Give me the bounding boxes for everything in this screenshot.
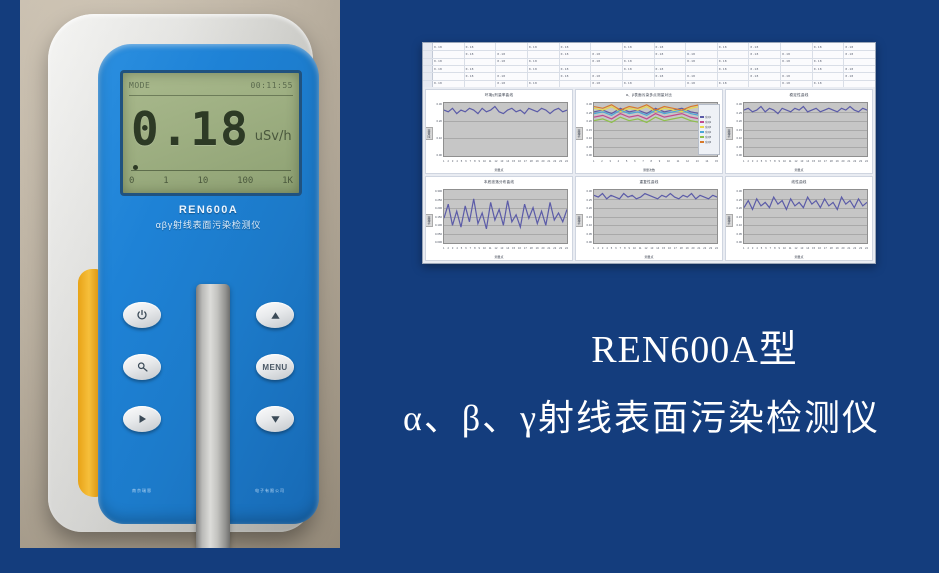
- chart-x-tick: 7: [770, 247, 771, 253]
- chart-x-tick: 16: [818, 160, 821, 166]
- chart-y-tick: 0.15: [587, 215, 592, 219]
- chart-x-tick: 19: [536, 247, 539, 253]
- chart-y-tick: 0.10: [737, 136, 742, 140]
- chart-x-tick: 21: [547, 247, 550, 253]
- chart-y-tick: 0.30: [587, 102, 592, 106]
- spreadsheet-region: 0.180.180.180.180.180.180.180.180.180.18…: [423, 43, 875, 88]
- chart-x-tick: 4: [456, 247, 457, 253]
- chart-plot-area: [743, 102, 868, 157]
- spreadsheet-cell[interactable]: 0.18: [466, 52, 474, 56]
- chart-x-axis-title: 测量点: [726, 255, 872, 259]
- chart-x-tick: 2: [597, 247, 598, 253]
- chart-x-tick-labels: 123456789101112131415161718192021222324: [443, 160, 568, 166]
- chart-x-tick: 18: [680, 247, 683, 253]
- chart-card: 稳定性曲线计数率0.300.250.200.150.100.050.001234…: [725, 89, 873, 174]
- chart-x-tick: 20: [542, 247, 545, 253]
- chart-x-tick: 22: [553, 160, 556, 166]
- chart-legend-swatch: [700, 121, 704, 124]
- chart-x-tick: 23: [859, 160, 862, 166]
- spreadsheet-cell[interactable]: 0.18: [782, 74, 790, 78]
- chart-x-tick: 18: [530, 160, 533, 166]
- chart-x-tick: 2: [747, 247, 748, 253]
- spreadsheet-cell[interactable]: 0.18: [434, 45, 442, 49]
- spreadsheet-cell[interactable]: 0.18: [466, 67, 474, 71]
- chart-plot-wrapper: [743, 189, 868, 244]
- chart-card: α、β表面污染多点测量对比计数率0.300.250.200.150.100.05…: [575, 89, 723, 174]
- chart-x-tick: 15: [812, 160, 815, 166]
- chart-x-tick: 24: [865, 247, 868, 253]
- chart-x-tick: 3: [602, 247, 603, 253]
- device-shell: MODE 00:11:55 0.18 uSv/h 01101001K REN60…: [48, 14, 313, 532]
- spreadsheet-cell[interactable]: 0.18: [656, 52, 664, 56]
- chart-x-tick: 12: [645, 247, 648, 253]
- spreadsheet-cell[interactable]: 0.18: [529, 81, 537, 85]
- chart-legend-item[interactable]: 系列3: [700, 125, 718, 129]
- spreadsheet-rowline: [423, 65, 875, 66]
- chart-x-tick: 23: [709, 247, 712, 253]
- spreadsheet-cell[interactable]: 0.18: [814, 59, 822, 63]
- spreadsheet-cell[interactable]: 0.18: [814, 45, 822, 49]
- chart-title: 环境γ剂量率曲线: [426, 93, 572, 98]
- chart-card: 本底涨落分布曲线计数率0.3000.2500.2000.1500.1000.05…: [425, 176, 573, 261]
- chart-legend-label: 系列3: [705, 125, 711, 129]
- chart-legend-item[interactable]: 系列6: [700, 140, 718, 144]
- spreadsheet-cell[interactable]: 0.18: [750, 52, 758, 56]
- lcd-status-bar: MODE 00:11:55: [129, 76, 293, 94]
- spreadsheet-rowline: [423, 50, 875, 51]
- chart-x-tick: 15: [512, 247, 515, 253]
- chart-x-tick: 1: [593, 160, 594, 166]
- chart-x-tick: 5: [461, 160, 462, 166]
- chart-y-tick: 0.100: [435, 223, 442, 227]
- chart-y-tick: 0.15: [587, 128, 592, 132]
- spreadsheet-cell[interactable]: 0.18: [719, 45, 727, 49]
- spreadsheet-cell[interactable]: 0.18: [814, 67, 822, 71]
- device-microtext-left: 南京瑞恩: [132, 488, 152, 494]
- chart-title: 重复性曲线: [576, 180, 722, 185]
- chart-y-tick: 0.30: [587, 189, 592, 193]
- chart-x-tick: 3: [609, 160, 610, 166]
- lcd-reading-unit: uSv/h: [255, 129, 292, 144]
- chart-series-svg: [444, 103, 567, 156]
- lcd-status-left: MODE: [129, 81, 150, 90]
- chart-series-line: [444, 107, 567, 114]
- chart-legend-swatch: [700, 136, 704, 139]
- chart-x-tick: 5: [626, 160, 627, 166]
- chart-y-tick-labels: 0.300.200.100.00: [427, 102, 442, 157]
- chart-y-tick-labels: 0.300.250.200.150.100.050.00: [577, 102, 592, 157]
- spreadsheet-cell[interactable]: 0.18: [719, 67, 727, 71]
- chart-x-tick: 8: [651, 160, 652, 166]
- spreadsheet-cell[interactable]: 0.18: [719, 81, 727, 85]
- chart-x-tick: 2: [601, 160, 602, 166]
- chart-gridline: [744, 156, 867, 157]
- chart-x-tick: 9: [629, 247, 630, 253]
- chart-x-tick: 9: [479, 160, 480, 166]
- chart-x-tick: 12: [495, 160, 498, 166]
- spreadsheet-cell[interactable]: 0.18: [687, 81, 695, 85]
- chart-gridline: [444, 243, 567, 244]
- spreadsheet-cell[interactable]: 0.18: [434, 81, 442, 85]
- chart-plot-wrapper: [593, 189, 718, 244]
- chart-x-tick-labels: 123456789101112131415161718192021222324: [443, 247, 568, 253]
- chart-x-tick: 16: [818, 247, 821, 253]
- chart-x-tick: 12: [795, 247, 798, 253]
- spreadsheet-cell[interactable]: 0.18: [592, 52, 600, 56]
- chart-gridline: [594, 156, 717, 157]
- spreadsheet-colline: [780, 43, 781, 87]
- spreadsheet-cell[interactable]: 0.18: [592, 81, 600, 85]
- chart-x-tick: 10: [667, 160, 670, 166]
- chart-x-tick: 2: [447, 247, 448, 253]
- spreadsheet-cell[interactable]: 0.18: [782, 81, 790, 85]
- device-front-panel: MODE 00:11:55 0.18 uSv/h 01101001K REN60…: [98, 44, 319, 524]
- play-icon: [136, 413, 148, 425]
- spreadsheet-colline: [812, 43, 813, 87]
- spreadsheet-cell[interactable]: 0.18: [497, 81, 505, 85]
- chart-x-tick: 13: [500, 160, 503, 166]
- chart-x-tick: 23: [559, 247, 562, 253]
- chart-y-tick: 0.05: [737, 232, 742, 236]
- chart-y-tick: 0.10: [587, 136, 592, 140]
- chart-x-tick: 6: [634, 160, 635, 166]
- chart-x-tick: 19: [536, 160, 539, 166]
- chart-card: 线性曲线计数率0.300.250.200.150.100.050.0012345…: [725, 176, 873, 261]
- spreadsheet-cell[interactable]: 0.18: [750, 45, 758, 49]
- chart-x-tick: 5: [611, 247, 612, 253]
- chart-x-tick: 12: [686, 160, 689, 166]
- spreadsheet-cell[interactable]: 0.18: [497, 52, 505, 56]
- spreadsheet-rowline: [423, 80, 875, 81]
- chart-y-tick-labels: 0.300.250.200.150.100.050.00: [577, 189, 592, 244]
- spreadsheet-cell[interactable]: 0.18: [561, 74, 569, 78]
- chart-x-tick: 4: [756, 160, 757, 166]
- chart-y-tick: 0.25: [737, 111, 742, 115]
- chart-x-tick: 16: [518, 247, 521, 253]
- spreadsheet-colline: [622, 43, 623, 87]
- chart-legend-item[interactable]: 系列4: [700, 130, 718, 134]
- chart-x-tick: 10: [783, 160, 786, 166]
- chart-x-tick: 14: [506, 160, 509, 166]
- chart-y-tick: 0.20: [437, 119, 442, 123]
- chart-x-tick: 13: [650, 247, 653, 253]
- chart-x-tick: 17: [524, 247, 527, 253]
- chart-x-tick: 15: [812, 247, 815, 253]
- chart-legend-swatch: [700, 116, 704, 119]
- lcd-scale-ticks: 01101001K: [129, 173, 293, 189]
- spreadsheet-cell[interactable]: 0.18: [624, 67, 632, 71]
- spreadsheet-cell[interactable]: 0.18: [845, 45, 853, 49]
- chart-x-tick: 11: [677, 160, 680, 166]
- chart-legend-item[interactable]: 系列5: [700, 135, 718, 139]
- spreadsheet-cell[interactable]: 0.18: [687, 74, 695, 78]
- title-model: REN600A型: [330, 318, 939, 373]
- chart-x-tick: 6: [765, 160, 766, 166]
- chart-x-tick: 11: [789, 160, 792, 166]
- spreadsheet-cell[interactable]: 0.18: [624, 81, 632, 85]
- search-button[interactable]: [123, 354, 161, 380]
- lcd-divider: [129, 95, 293, 96]
- device-brand-label: REN600A αβγ射线表面污染检测仪: [98, 204, 319, 231]
- chart-x-tick: 18: [530, 247, 533, 253]
- chart-x-tick: 4: [456, 160, 457, 166]
- chart-x-tick: 17: [674, 247, 677, 253]
- spreadsheet-cell[interactable]: 0.18: [782, 59, 790, 63]
- chart-legend-label: 系列2: [705, 120, 711, 124]
- chart-x-tick: 21: [847, 160, 850, 166]
- device-handle-strip: [196, 284, 230, 548]
- spreadsheet-colline: [464, 43, 465, 87]
- chart-plot-area: [443, 189, 568, 244]
- chart-x-tick: 21: [547, 160, 550, 166]
- chart-y-tick: 0.05: [587, 145, 592, 149]
- chart-legend-swatch: [700, 126, 704, 129]
- spreadsheet-cell[interactable]: 0.18: [529, 59, 537, 63]
- spreadsheet-cell[interactable]: 0.18: [466, 74, 474, 78]
- chart-x-tick: 4: [606, 247, 607, 253]
- lcd-reading-area: 0.18 uSv/h: [131, 99, 293, 159]
- spreadsheet-colline: [527, 43, 528, 87]
- spreadsheet-cell[interactable]: 0.18: [592, 59, 600, 63]
- spreadsheet-rowline: [423, 58, 875, 59]
- spreadsheet-cell[interactable]: 0.18: [845, 52, 853, 56]
- chart-x-axis-title: 测量点: [576, 255, 722, 259]
- up-button[interactable]: [256, 302, 294, 328]
- lcd-scale-tick: 1: [163, 176, 168, 186]
- chart-x-tick: 1: [743, 160, 744, 166]
- chart-x-tick: 1: [443, 160, 444, 166]
- chart-y-tick: 0.30: [437, 102, 442, 106]
- chart-x-tick: 1: [743, 247, 744, 253]
- chart-card: 环境γ剂量率曲线剂量率0.300.200.100.001234567891011…: [425, 89, 573, 174]
- chart-x-tick: 20: [542, 160, 545, 166]
- spreadsheet-cell[interactable]: 0.18: [497, 59, 505, 63]
- spreadsheet-cell[interactable]: 0.18: [687, 52, 695, 56]
- lcd-scale-tick: 10: [197, 176, 208, 186]
- chart-legend-label: 系列1: [705, 115, 711, 119]
- chart-x-tick: 11: [489, 247, 492, 253]
- menu-button[interactable]: MENU: [256, 354, 294, 380]
- chart-x-tick: 15: [662, 247, 665, 253]
- device-model-text: REN600A: [98, 204, 319, 216]
- spreadsheet-cell[interactable]: 0.18: [497, 74, 505, 78]
- chart-x-tick: 23: [559, 160, 562, 166]
- chart-y-tick: 0.20: [737, 206, 742, 210]
- chart-x-tick: 19: [836, 247, 839, 253]
- chart-y-tick: 0.15: [737, 128, 742, 132]
- chart-plot-wrapper: [443, 189, 568, 244]
- chart-title: 稳定性曲线: [726, 93, 872, 98]
- chart-legend-swatch: [700, 131, 704, 134]
- chart-x-tick-labels: 123456789101112131415: [593, 160, 718, 166]
- chart-y-tick: 0.200: [435, 206, 442, 210]
- spreadsheet-cell[interactable]: 0.18: [561, 45, 569, 49]
- chart-x-tick: 5: [761, 247, 762, 253]
- down-button[interactable]: [256, 406, 294, 432]
- spreadsheet-cell[interactable]: 0.18: [529, 67, 537, 71]
- lcd-reading-value: 0.18: [131, 106, 250, 152]
- spreadsheet-cell[interactable]: 0.18: [466, 45, 474, 49]
- chart-x-tick: 8: [624, 247, 625, 253]
- chart-x-tick: 18: [830, 160, 833, 166]
- chart-series-svg: [744, 190, 867, 243]
- spreadsheet-cell[interactable]: 0.18: [782, 52, 790, 56]
- chart-x-tick: 13: [500, 247, 503, 253]
- chart-x-tick: 22: [553, 247, 556, 253]
- chart-x-tick: 9: [779, 247, 780, 253]
- spreadsheet-cell[interactable]: 0.18: [434, 67, 442, 71]
- chart-x-tick: 6: [465, 160, 466, 166]
- spreadsheet-colline: [717, 43, 718, 87]
- spreadsheet-cell[interactable]: 0.18: [624, 45, 632, 49]
- chart-legend-item[interactable]: 系列2: [700, 120, 718, 124]
- chart-x-tick: 13: [800, 247, 803, 253]
- chart-x-tick: 19: [836, 160, 839, 166]
- spreadsheet-cell[interactable]: 0.18: [656, 45, 664, 49]
- spreadsheet-cell[interactable]: 0.18: [656, 67, 664, 71]
- chart-x-tick: 11: [489, 160, 492, 166]
- chart-x-tick: 14: [705, 160, 708, 166]
- spreadsheet-cell[interactable]: 0.18: [814, 81, 822, 85]
- spreadsheet-cell[interactable]: 0.18: [592, 74, 600, 78]
- chart-x-tick: 16: [668, 247, 671, 253]
- chart-x-tick: 24: [565, 160, 568, 166]
- chart-y-tick: 0.20: [737, 119, 742, 123]
- chart-x-tick: 3: [752, 160, 753, 166]
- chart-series-line: [744, 197, 867, 209]
- chart-x-tick: 14: [806, 247, 809, 253]
- chart-title: 线性曲线: [726, 180, 872, 185]
- chart-x-tick: 10: [633, 247, 636, 253]
- chart-series-svg: [444, 190, 567, 243]
- chart-x-tick: 21: [847, 247, 850, 253]
- chart-plot-area: [443, 102, 568, 157]
- chart-x-tick: 22: [853, 160, 856, 166]
- spreadsheet-cell[interactable]: 0.18: [529, 45, 537, 49]
- spreadsheet-colline: [495, 43, 496, 87]
- chart-legend: 系列1系列2系列3系列4系列5系列6: [698, 104, 720, 155]
- chart-y-tick: 0.00: [737, 153, 742, 157]
- chart-x-axis-title: 测量点: [726, 168, 872, 172]
- chart-legend-label: 系列4: [705, 130, 711, 134]
- lcd-bargraph: [131, 165, 291, 171]
- chart-x-tick: 13: [696, 160, 699, 166]
- chart-y-tick: 0.00: [587, 240, 592, 244]
- chart-x-tick: 12: [495, 247, 498, 253]
- chart-x-tick: 14: [656, 247, 659, 253]
- chart-x-tick: 7: [770, 160, 771, 166]
- chart-x-tick-labels: 123456789101112131415161718192021222324: [593, 247, 718, 253]
- chart-plot-wrapper: [743, 102, 868, 157]
- chart-y-tick: 0.150: [435, 215, 442, 219]
- chart-y-tick-labels: 0.300.250.200.150.100.050.00: [727, 102, 742, 157]
- chart-x-tick: 6: [615, 247, 616, 253]
- chart-y-tick: 0.10: [587, 223, 592, 227]
- chart-x-tick: 13: [800, 160, 803, 166]
- software-screenshot-panel: 0.180.180.180.180.180.180.180.180.180.18…: [422, 42, 876, 264]
- chart-y-tick: 0.25: [587, 111, 592, 115]
- chart-x-tick: 20: [692, 247, 695, 253]
- chart-x-tick: 7: [470, 160, 471, 166]
- chart-y-tick-labels: 0.3000.2500.2000.1500.1000.0500.000: [427, 189, 442, 244]
- spreadsheet-cell[interactable]: 0.18: [845, 67, 853, 71]
- chart-x-tick: 4: [618, 160, 619, 166]
- device-photograph: MODE 00:11:55 0.18 uSv/h 01101001K REN60…: [20, 0, 340, 548]
- chart-series-svg: [594, 190, 717, 243]
- spreadsheet-colline: [685, 43, 686, 87]
- chart-x-tick: 22: [703, 247, 706, 253]
- chart-y-tick: 0.30: [737, 189, 742, 193]
- chart-x-tick: 12: [795, 160, 798, 166]
- spreadsheet-cell[interactable]: 0.18: [687, 59, 695, 63]
- chart-x-tick: 15: [715, 160, 718, 166]
- chart-x-tick: 5: [461, 247, 462, 253]
- chart-x-tick: 10: [783, 247, 786, 253]
- chart-y-tick: 0.300: [435, 189, 442, 193]
- chart-legend-label: 系列5: [705, 135, 711, 139]
- spreadsheet-cell[interactable]: 0.18: [434, 59, 442, 63]
- chart-y-tick: 0.25: [587, 198, 592, 202]
- chart-gridline: [594, 243, 717, 244]
- chart-x-tick: 6: [465, 247, 466, 253]
- chart-x-tick: 22: [853, 247, 856, 253]
- chart-x-tick: 24: [865, 160, 868, 166]
- play-button[interactable]: [123, 406, 161, 432]
- chart-legend-item[interactable]: 系列1: [700, 115, 718, 119]
- chart-x-axis-title: 测量点: [426, 168, 572, 172]
- chart-y-tick: 0.20: [587, 206, 592, 210]
- chart-x-tick: 23: [859, 247, 862, 253]
- spreadsheet-cell[interactable]: 0.18: [624, 59, 632, 63]
- spreadsheet-cell[interactable]: 0.18: [656, 74, 664, 78]
- spreadsheet-cell[interactable]: 0.18: [561, 52, 569, 56]
- search-icon: [136, 361, 149, 373]
- lcd-screen: MODE 00:11:55 0.18 uSv/h 01101001K: [120, 70, 302, 196]
- chart-x-tick: 2: [747, 160, 748, 166]
- chart-y-tick: 0.00: [437, 153, 442, 157]
- chart-x-tick: 7: [620, 247, 621, 253]
- chart-x-tick: 9: [479, 247, 480, 253]
- chart-x-tick: 7: [470, 247, 471, 253]
- chart-x-tick: 24: [565, 247, 568, 253]
- spreadsheet-colline: [748, 43, 749, 87]
- device-grip-left: [78, 269, 100, 497]
- spreadsheet-cell[interactable]: 0.18: [750, 74, 758, 78]
- chart-y-tick: 0.10: [437, 136, 442, 140]
- spreadsheet-cell[interactable]: 0.18: [561, 67, 569, 71]
- chart-x-tick: 3: [452, 160, 453, 166]
- chart-x-tick: 8: [474, 160, 475, 166]
- chart-y-tick: 0.05: [737, 145, 742, 149]
- chart-x-tick: 24: [715, 247, 718, 253]
- spreadsheet-colline: [654, 43, 655, 87]
- power-button[interactable]: [123, 302, 161, 328]
- spreadsheet-colline: [590, 43, 591, 87]
- chart-card: 重复性曲线计数率0.300.250.200.150.100.050.001234…: [575, 176, 723, 261]
- spreadsheet-cell[interactable]: 0.18: [845, 74, 853, 78]
- chart-title: α、β表面污染多点测量对比: [576, 93, 722, 98]
- chart-x-tick-labels: 123456789101112131415161718192021222324: [743, 160, 868, 166]
- spreadsheet-cell[interactable]: 0.18: [719, 59, 727, 63]
- chart-y-tick: 0.00: [737, 240, 742, 244]
- chart-x-tick: 17: [824, 160, 827, 166]
- chart-y-tick: 0.25: [737, 198, 742, 202]
- chart-x-tick: 11: [789, 247, 792, 253]
- chart-plot-area: [593, 189, 718, 244]
- lcd-status-right: 00:11:55: [250, 81, 293, 90]
- chart-y-tick: 0.050: [435, 232, 442, 236]
- spreadsheet-cell[interactable]: 0.18: [750, 67, 758, 71]
